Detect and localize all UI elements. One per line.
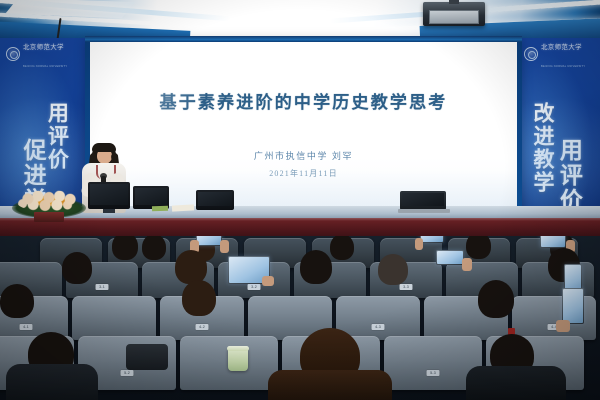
audience-hand [220,240,229,253]
audience-head [112,236,138,260]
cup-lid [227,346,249,351]
audience-head [0,284,34,318]
audience-hand [556,320,570,332]
audience-hand [262,276,274,286]
seat-number: 4-1 [20,324,33,330]
audience-head [378,254,408,285]
audience-head [182,280,216,316]
lecture-hall-photo: 北京师范大学 BEIJING NORMAL UNIVERSITY 促进学习 用评… [0,0,600,400]
audience-hand [415,238,423,250]
audience-head [330,236,354,260]
audience-head [62,252,92,284]
seat-number: 5-3 [427,370,440,376]
seat-number: 3-3 [400,284,413,290]
monitor-stand [103,209,115,213]
smartphone-camera[interactable] [562,288,584,324]
audience-head [142,236,166,260]
audience-head [466,236,491,259]
desk-monitor-right [196,190,234,210]
seat-number: 4-3 [372,324,385,330]
audience-shoulders [6,364,98,400]
university-logo-left: 北京师范大学 BEIJING NORMAL UNIVERSITY [6,46,82,62]
audience-hand [462,258,472,271]
projection-screen: 基于素养进阶的中学历史教学思考 广州市执信中学 刘罕 2021年11月11日 [90,42,517,207]
smartphone-camera[interactable] [420,236,444,243]
projector-icon [423,2,485,26]
projector-lens-panel [429,10,479,24]
flower-stand [34,212,64,222]
slide-date: 2021年11月11日 [90,168,517,179]
audience-head [300,250,332,284]
university-name-en: BEIJING NORMAL UNIVERSITY [541,65,585,68]
smartphone-camera[interactable] [196,236,222,246]
screen-glare [90,42,517,207]
laptop-base [398,209,450,213]
flower-blooms [16,190,82,212]
seat-number: 5-2 [121,370,134,376]
slide-presenter: 广州市执信中学 刘罕 [90,149,517,162]
green-drink-cup[interactable] [228,348,248,371]
audience-head [175,250,207,284]
university-logo-right: 北京师范大学 BEIJING NORMAL UNIVERSITY [524,46,594,62]
backpack [126,344,168,370]
presenter-fringe [92,143,116,152]
university-name: 北京师范大学 [23,44,64,51]
seat-number: 3-1 [96,284,109,290]
university-name: 北京师范大学 [541,44,582,51]
presenter-laptop [400,191,446,210]
projector-mount [449,0,459,4]
seat-number: 4-2 [196,324,209,330]
audience-area: 3-1 3-2 3-3 4-1 4-2 [0,236,600,400]
slide-title: 基于素养进阶的中学历史教学思考 [90,88,517,113]
smartphone-camera[interactable] [436,250,464,265]
desk-papers [172,204,194,211]
seat[interactable] [72,296,156,340]
desk-book [152,206,168,212]
audience-shoulders [466,366,566,400]
audience-head [478,280,514,318]
seat-number: 3-2 [248,284,261,290]
desk-monitor-left [88,182,130,209]
smartphone-camera[interactable] [540,236,566,248]
university-seal-icon [6,47,20,61]
floral-arrangement [12,186,86,220]
university-seal-icon [524,47,538,61]
university-name-en: BEIJING NORMAL UNIVERSITY [23,65,67,68]
audience-shoulders [268,370,392,400]
